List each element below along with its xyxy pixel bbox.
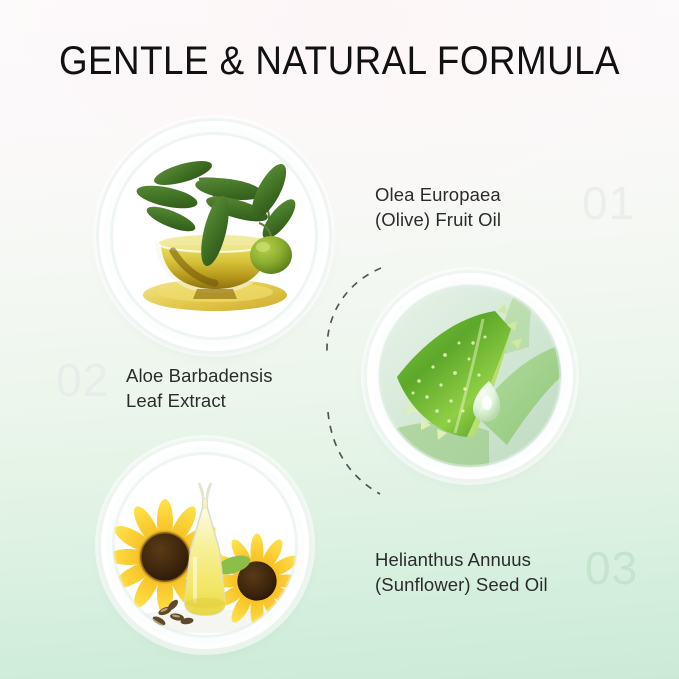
step-number-02: 02 [56,357,109,403]
ingredient-infographic-poster: GENTLE & NATURAL FORMULA [0,0,679,679]
dashed-connector-olive-to-aloe [327,268,381,352]
dashed-connector-aloe-to-sunflower [328,412,380,494]
ingredient-image-sunflower [106,446,304,644]
aloe-vera-leaf-illustration [379,285,561,467]
step-number-01: 01 [582,180,635,226]
page-title: GENTLE & NATURAL FORMULA [27,38,652,84]
ingredient-image-aloe [372,278,568,474]
sunflower-seed-oil-photo [113,453,297,637]
ingredient-image-olive [104,126,324,346]
ingredient-label-sunflower: Helianthus Annuus (Sunflower) Seed Oil [375,547,548,597]
olive-oil-bowl-photo [111,133,317,339]
step-number-03: 03 [585,545,638,591]
ingredient-label-olive: Olea Europaea (Olive) Fruit Oil [375,182,501,232]
dashed-connector-group [0,0,679,679]
aloe-vera-leaf-photo [379,285,561,467]
sunflower-seed-oil-illustration [113,453,297,637]
ingredient-label-aloe: Aloe Barbadensis Leaf Extract [126,363,273,413]
olive-oil-bowl-illustration [111,133,317,339]
